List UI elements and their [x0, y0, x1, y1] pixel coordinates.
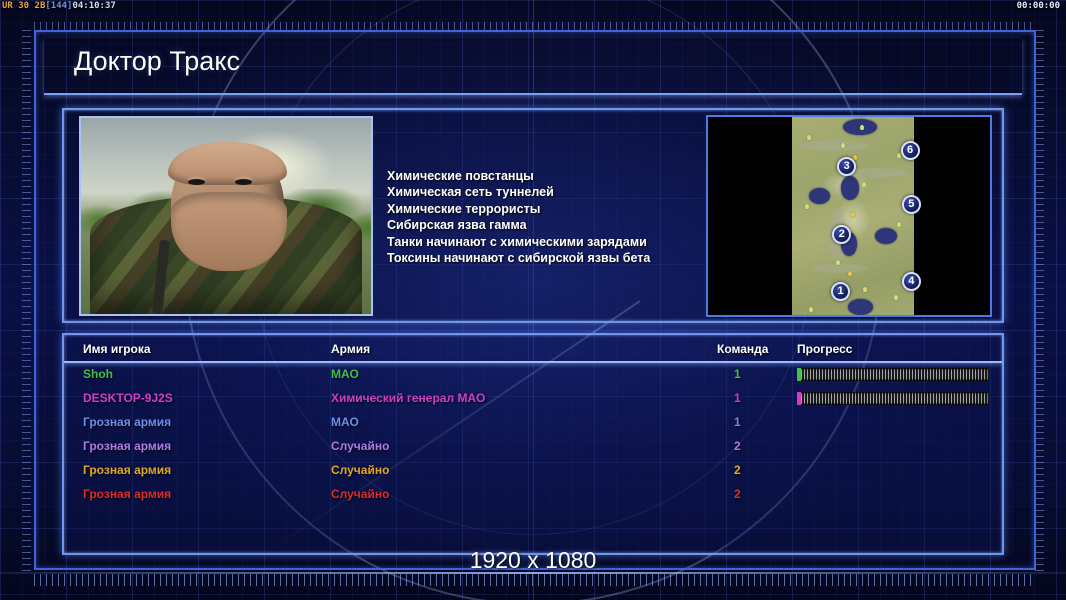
map-tree: [897, 153, 901, 158]
hud-left-readout: UR 30 2B[144]04:10:37: [2, 1, 116, 11]
ruler-right: [1035, 30, 1044, 574]
map-start-position[interactable]: 5: [902, 195, 921, 214]
column-header-progress: Прогресс: [797, 342, 852, 356]
table-row: Грозная армияМАО1: [64, 411, 1002, 435]
player-table-body: ShohМАО1DESKTOP-9J2SХимический генерал М…: [64, 363, 1002, 553]
hud-left-mid: 30 2B: [18, 1, 45, 11]
player-name: Грозная армия: [83, 463, 171, 477]
player-team: 1: [734, 391, 741, 405]
player-name: Shoh: [83, 367, 113, 381]
hud-left-bracket: [144]: [45, 1, 72, 11]
description-line: Химические террористы: [387, 201, 707, 217]
portrait-eye-right: [235, 179, 252, 185]
page-title: Доктор Тракс: [74, 46, 240, 77]
player-progress-bar: [797, 392, 989, 405]
title-bar: Доктор Тракс: [44, 38, 1022, 95]
player-list-panel: Имя игрока Армия Команда Прогресс ShohМА…: [62, 333, 1004, 555]
resolution-label: 1920 x 1080: [0, 547, 1066, 574]
map-tree: [853, 155, 857, 160]
map-start-position[interactable]: 3: [837, 157, 856, 176]
player-name: Грозная армия: [83, 439, 171, 453]
player-army: МАО: [331, 415, 359, 429]
description-line: Танки начинают с химическими зарядами: [387, 234, 707, 250]
column-header-name: Имя игрока: [83, 342, 151, 356]
map-terrain: 123456: [792, 117, 914, 315]
hud-left-prefix: UR: [2, 1, 13, 11]
player-army: МАО: [331, 367, 359, 381]
map-start-position[interactable]: 4: [902, 272, 921, 291]
map-tree: [807, 135, 811, 140]
ruler-bottom: [34, 574, 1036, 586]
player-army: Случайно: [331, 463, 389, 477]
map-tree: [805, 204, 809, 209]
map-water: [809, 188, 830, 204]
hud-left-clock: 04:10:37: [72, 1, 115, 11]
player-name: DESKTOP-9J2S: [83, 391, 173, 405]
map-tree: [860, 125, 864, 130]
map-water: [875, 228, 897, 244]
map-start-position[interactable]: 6: [901, 141, 920, 160]
faction-description-list: Химические повстанцыХимическая сеть тунн…: [387, 168, 707, 266]
map-tree: [809, 307, 813, 312]
loading-screen: UR 30 2B[144]04:10:37 00:00:00 Доктор Тр…: [0, 0, 1066, 600]
map-tree: [863, 287, 867, 292]
player-progress-bar: [797, 368, 989, 381]
map-tree: [851, 212, 855, 217]
description-line: Токсины начинают с сибирской язвы бета: [387, 250, 707, 266]
map-preview: 123456: [706, 115, 992, 317]
progress-tip: [797, 368, 801, 381]
map-tree: [897, 222, 901, 227]
table-row: ShohМАО1: [64, 363, 1002, 387]
progress-tip: [797, 392, 801, 405]
player-team: 1: [734, 415, 741, 429]
player-name: Грозная армия: [83, 415, 171, 429]
faction-info-panel: Химические повстанцыХимическая сеть тунн…: [62, 108, 1004, 323]
player-army: Случайно: [331, 487, 389, 501]
column-header-team: Команда: [717, 342, 768, 356]
hud-right-clock: 00:00:00: [1017, 1, 1060, 11]
table-row: DESKTOP-9J2SХимический генерал МАО1: [64, 387, 1002, 411]
ruler-top: [34, 22, 1036, 31]
map-road: [812, 264, 868, 274]
table-row: Грозная армияСлучайно2: [64, 435, 1002, 459]
general-portrait: [79, 116, 373, 316]
description-line: Сибирская язва гамма: [387, 217, 707, 233]
map-water: [841, 176, 859, 200]
map-tree: [836, 260, 840, 265]
map-water: [848, 299, 872, 315]
description-line: Химическая сеть туннелей: [387, 184, 707, 200]
progress-fill: [797, 368, 989, 381]
map-road: [799, 141, 870, 151]
portrait-eye-left: [188, 179, 205, 185]
description-line: Химические повстанцы: [387, 168, 707, 184]
player-name: Грозная армия: [83, 487, 171, 501]
player-team: 2: [734, 487, 741, 501]
player-team: 1: [734, 367, 741, 381]
map-start-position[interactable]: 1: [831, 282, 850, 301]
player-army: Химический генерал МАО: [331, 391, 485, 405]
table-row: Грозная армияСлучайно2: [64, 459, 1002, 483]
map-tree: [894, 295, 898, 300]
player-army: Случайно: [331, 439, 389, 453]
player-table-header: Имя игрока Армия Команда Прогресс: [64, 335, 1002, 363]
map-tree: [841, 143, 845, 148]
table-row: Грозная армияСлучайно2: [64, 483, 1002, 507]
ruler-left: [22, 30, 31, 574]
progress-fill: [797, 392, 989, 405]
player-team: 2: [734, 463, 741, 477]
map-tree: [848, 271, 852, 276]
column-header-army: Армия: [331, 342, 370, 356]
player-team: 2: [734, 439, 741, 453]
map-tree: [862, 182, 866, 187]
